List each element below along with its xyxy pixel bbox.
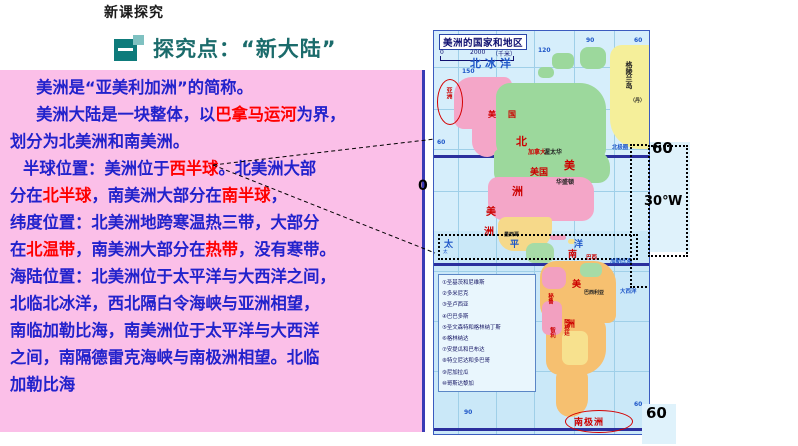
label-south-america-2: 美 <box>572 277 581 290</box>
grat-label-60-top: 60 <box>634 37 642 44</box>
legend-item: ④巴巴多斯 <box>442 312 532 323</box>
grat-label-90: 90 <box>586 37 594 44</box>
map-title: 美洲的国家和地区 <box>439 34 527 50</box>
legend-item: ⑥格林纳达 <box>442 334 532 345</box>
legend-item: ⑨尼加拉瓜 <box>442 368 532 379</box>
grat-label-30: 90 <box>464 409 472 416</box>
legend-item: ③圣卢西亚 <box>442 300 532 311</box>
highlight-north-hemisphere: 北半球 <box>43 186 92 205</box>
annotation-left-zero: 0 <box>418 178 428 194</box>
annotation-ellipse-antarctica <box>565 410 633 433</box>
label-brazil: 巴西 <box>586 253 597 261</box>
bookmark-square-icon <box>114 35 144 61</box>
body-line-8: 海陆位置：北美洲位于太平洋与大西洋之间， <box>10 263 418 290</box>
annotation-ellipse-asia <box>437 79 463 125</box>
map-legend[interactable]: ①圣基茨和尼维斯 ②多米尼克 ③圣卢西亚 ④巴巴多斯 ⑤圣文森特和格林纳丁斯 ⑥… <box>438 274 536 392</box>
label-north-america-3: 洲 <box>512 183 523 199</box>
label-argentina: 阿根廷 <box>562 319 570 336</box>
label-north-america-2: 美 <box>564 157 575 173</box>
label-americas-2: 美 <box>486 203 496 218</box>
body-line-9: 北临北冰洋，西北隔白令海峡与亚洲相望， <box>10 290 418 317</box>
label-usa-main: 美国 <box>530 165 548 178</box>
label-washington: 华盛顿 <box>556 177 574 186</box>
body-line-10: 南临加勒比海，南美洲位于太平洋与大西洋 <box>10 317 418 344</box>
label-pacific-sub: 太 <box>443 249 448 255</box>
grat-label-120: 120 <box>538 47 551 54</box>
label-south-america-1: 南 <box>568 247 577 260</box>
highlight-west-hemisphere: 西半球 <box>170 159 219 178</box>
annotation-box-30w <box>630 144 650 288</box>
land-usa <box>488 177 594 221</box>
label-chile: 智利 <box>548 327 556 338</box>
body-line-3: 划分为北美洲和南美洲。 <box>10 128 418 155</box>
land-arctic-island-c <box>538 67 554 78</box>
label-greenland: 格陵兰岛 <box>624 61 634 89</box>
grat-label-60-left: 60 <box>437 139 445 146</box>
section-title: 探究点：“新大陆” <box>114 33 337 63</box>
label-caribbean: 加勒比海 <box>610 257 632 265</box>
annotation-30-right: 30° <box>644 194 669 209</box>
legend-item: ①圣基茨和尼维斯 <box>442 278 532 289</box>
legend-item: ⑩哥斯达黎加 <box>442 379 532 390</box>
legend-item: ②多米尼克 <box>442 289 532 300</box>
land-colombia <box>542 267 566 289</box>
land-arctic-island-a <box>552 53 574 69</box>
slide-heading: 新课探究 <box>104 2 164 22</box>
label-peru: 秘鲁 <box>546 293 554 304</box>
label-usa-alaska: 美国 <box>488 109 528 120</box>
body-line-11: 之间，南隔德雷克海峡与南极洲相望。北临 <box>10 344 418 371</box>
label-atlantic: 大西洋 <box>620 287 637 295</box>
body-line-6: 纬度位置：北美洲地跨寒温热三带，大部分 <box>10 209 418 236</box>
body-line-5: 分在北半球，南美洲大部分在南半球， <box>10 182 418 209</box>
body-line-1: 美洲是“亚美利加洲”的简称。 <box>10 74 418 101</box>
body-line-12: 加勒比海 <box>10 371 418 398</box>
section-title-label: 探究点：“新大陆” <box>153 33 337 63</box>
label-greenland-note: （丹） <box>630 97 645 104</box>
content-panel: 美洲是“亚美利加洲”的简称。 美洲大陆是一块整体，以巴拿马运河为界， 划分为北美… <box>0 70 425 432</box>
americas-map-figure[interactable]: 美洲的国家和地区 0 2000 （千米） 150 120 90 60 60 60… <box>433 30 650 435</box>
land-argentina <box>562 331 588 365</box>
label-arctic-ocean: 北冰洋 <box>470 55 515 71</box>
annotation-60-bottom: 60 <box>646 404 667 422</box>
land-guyana <box>580 263 602 277</box>
label-pacific-2: 平 <box>510 237 519 250</box>
highlight-north-temperate: 北温带 <box>26 240 75 259</box>
annotation-box-pacific <box>438 234 638 260</box>
label-north-america-1: 北 <box>516 133 527 149</box>
land-arctic-island-b <box>580 47 606 69</box>
highlight-south-hemisphere: 南半球 <box>222 186 271 205</box>
lesson-body-text: 美洲是“亚美利加洲”的简称。 美洲大陆是一块整体，以巴拿马运河为界， 划分为北美… <box>10 74 418 398</box>
legend-item: ⑤圣文森特和格林纳丁斯 <box>442 323 532 334</box>
label-arctic-circle: 北极圈 <box>612 143 628 151</box>
land-south-america-south <box>556 369 588 417</box>
legend-item: ⑦安提瓜和巴布达 <box>442 345 532 356</box>
highlight-tropics: 热带 <box>205 240 238 259</box>
map-canvas[interactable]: 美洲的国家和地区 0 2000 （千米） 150 120 90 60 60 60… <box>433 30 650 435</box>
annotation-w-right: W <box>668 194 682 209</box>
legend-item: ⑧特立尼达和多巴哥 <box>442 356 532 367</box>
annotation-60-right: 60 <box>652 139 673 157</box>
body-line-2: 美洲大陆是一块整体，以巴拿马运河为界， <box>10 101 418 128</box>
body-line-4: 半球位置：美洲位于西半球。北美洲大部 <box>10 155 418 182</box>
highlight-panama-canal: 巴拿马运河 <box>215 105 296 124</box>
body-line-7: 在北温带，南美洲大部分在热带，没有寒带。 <box>10 236 418 263</box>
scale-zero: 0 <box>440 49 444 56</box>
label-brasilia: 巴西利亚 <box>584 289 604 296</box>
label-ottawa: 渥太华 <box>544 147 562 156</box>
